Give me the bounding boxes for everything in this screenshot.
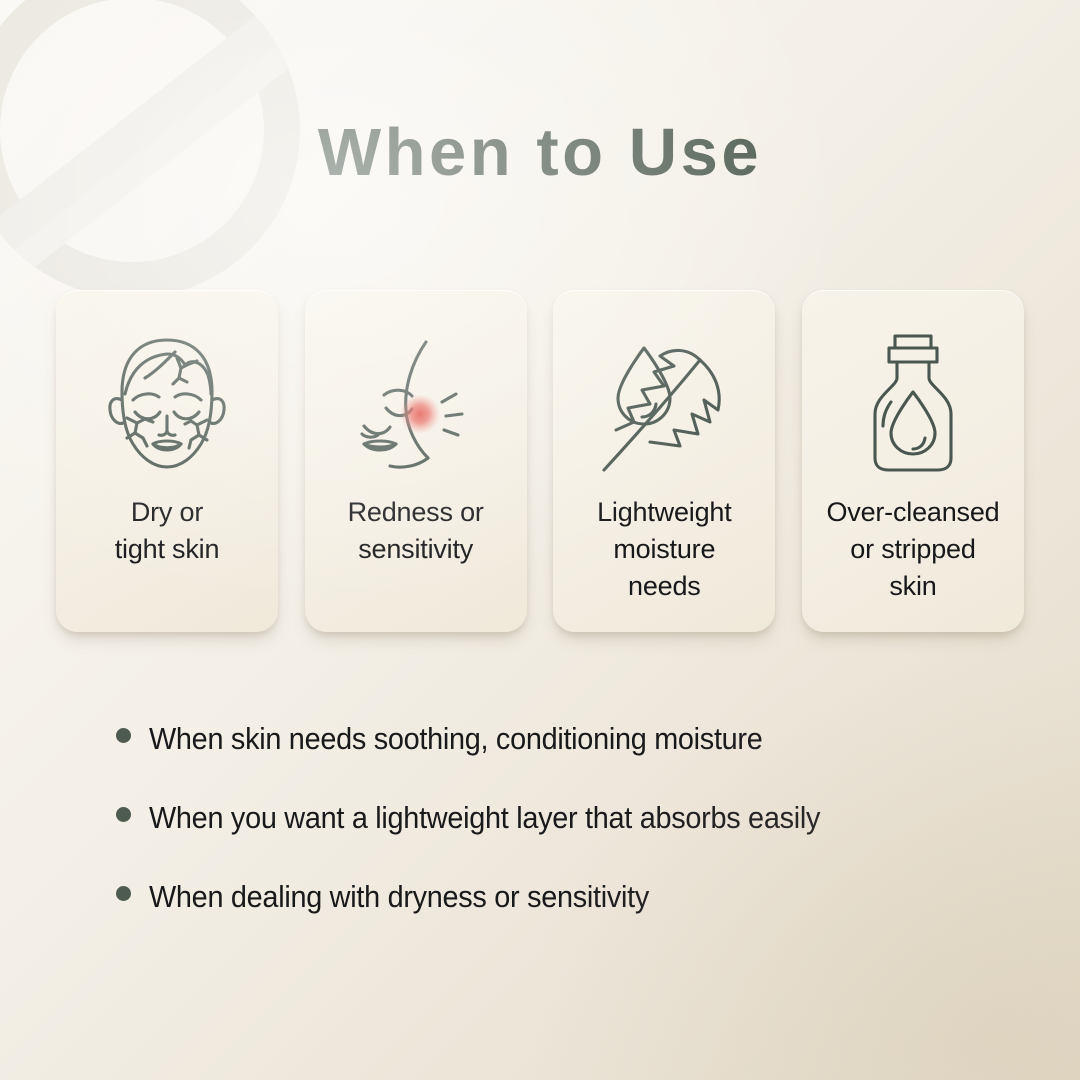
bottle-droplet-icon <box>837 328 989 480</box>
card-dry-tight-skin[interactable]: Dry or tight skin <box>56 290 278 632</box>
droplet-feather-icon <box>588 328 740 480</box>
card-over-cleansed-skin[interactable]: Over-cleansed or stripped skin <box>802 290 1024 632</box>
bullet-dot-icon <box>116 728 131 743</box>
bullet-text: When skin needs soothing, conditioning m… <box>149 722 763 756</box>
card-redness-sensitivity[interactable]: Redness or sensitivity <box>305 290 527 632</box>
list-item: When you want a lightweight layer that a… <box>116 801 1016 880</box>
infographic-page: MIANA When to Use <box>0 0 1080 1080</box>
card-label: Redness or sensitivity <box>313 494 518 568</box>
card-label: Over-cleansed or stripped skin <box>810 494 1015 605</box>
bullet-text: When dealing with dryness or sensitivity <box>149 880 649 914</box>
dry-cracked-face-icon <box>91 328 243 480</box>
bullet-dot-icon <box>116 886 131 901</box>
bullet-dot-icon <box>116 807 131 822</box>
bullet-text: When you want a lightweight layer that a… <box>149 801 820 835</box>
irritated-face-profile-icon <box>340 328 492 480</box>
card-lightweight-moisture[interactable]: Lightweight moisture needs <box>553 290 775 632</box>
list-item: When skin needs soothing, conditioning m… <box>116 722 1016 801</box>
benefit-bullet-list: When skin needs soothing, conditioning m… <box>116 722 1016 959</box>
list-item: When dealing with dryness or sensitivity <box>116 880 1016 959</box>
condition-card-row: Dry or tight skin <box>56 290 1024 635</box>
card-label: Dry or tight skin <box>65 494 270 568</box>
page-title: When to Use <box>0 118 1080 188</box>
card-label: Lightweight moisture needs <box>562 494 767 605</box>
